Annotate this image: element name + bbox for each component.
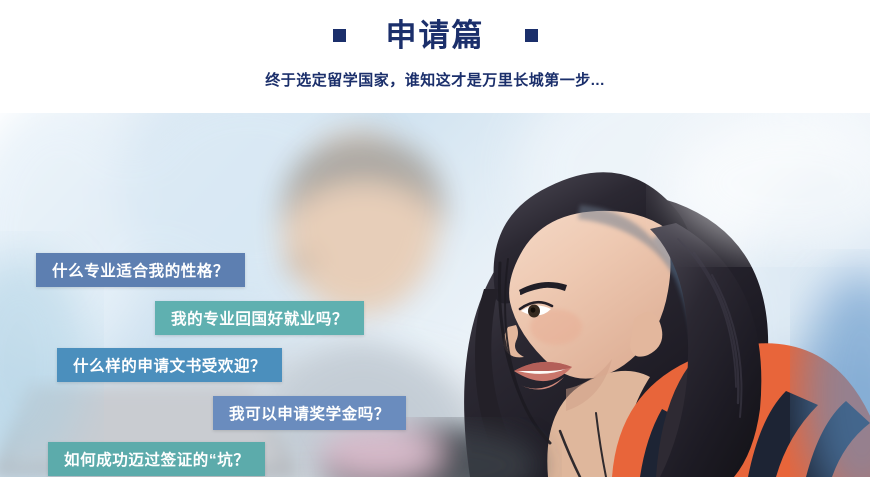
hero-photo: 什么专业适合我的性格？ 我的专业回国好就业吗？ 什么样的申请文书受欢迎？ 我可以… bbox=[0, 113, 870, 477]
question-bubble-5[interactable]: 如何成功迈过签证的“坑？ bbox=[48, 442, 265, 476]
student-photo-illustration bbox=[0, 113, 870, 477]
banner-header: 申请篇 终于选定留学国家，谁知这才是万里长城第一步... bbox=[0, 0, 870, 113]
question-bubble-4-label: 我可以申请奖学金吗？ bbox=[229, 402, 390, 424]
question-bubble-5-label: 如何成功迈过签证的“坑？ bbox=[64, 448, 249, 470]
question-bubble-3-label: 什么样的申请文书受欢迎？ bbox=[73, 354, 266, 376]
question-bubble-3[interactable]: 什么样的申请文书受欢迎？ bbox=[57, 348, 282, 382]
square-bullet-left-icon bbox=[333, 29, 346, 42]
footer-spacer bbox=[0, 477, 870, 492]
question-bubble-1[interactable]: 什么专业适合我的性格？ bbox=[36, 253, 245, 287]
question-bubble-2-label: 我的专业回国好就业吗？ bbox=[171, 307, 348, 329]
question-bubble-4[interactable]: 我可以申请奖学金吗？ bbox=[213, 396, 406, 430]
square-bullet-right-icon bbox=[525, 29, 538, 42]
page-subtitle: 终于选定留学国家，谁知这才是万里长城第一步... bbox=[0, 69, 870, 90]
question-bubble-2[interactable]: 我的专业回国好就业吗？ bbox=[155, 301, 364, 335]
promo-banner: 申请篇 终于选定留学国家，谁知这才是万里长城第一步... bbox=[0, 0, 870, 492]
page-title-row: 申请篇 bbox=[0, 20, 870, 51]
question-bubble-1-label: 什么专业适合我的性格？ bbox=[52, 259, 229, 281]
page-title: 申请篇 bbox=[386, 20, 485, 51]
